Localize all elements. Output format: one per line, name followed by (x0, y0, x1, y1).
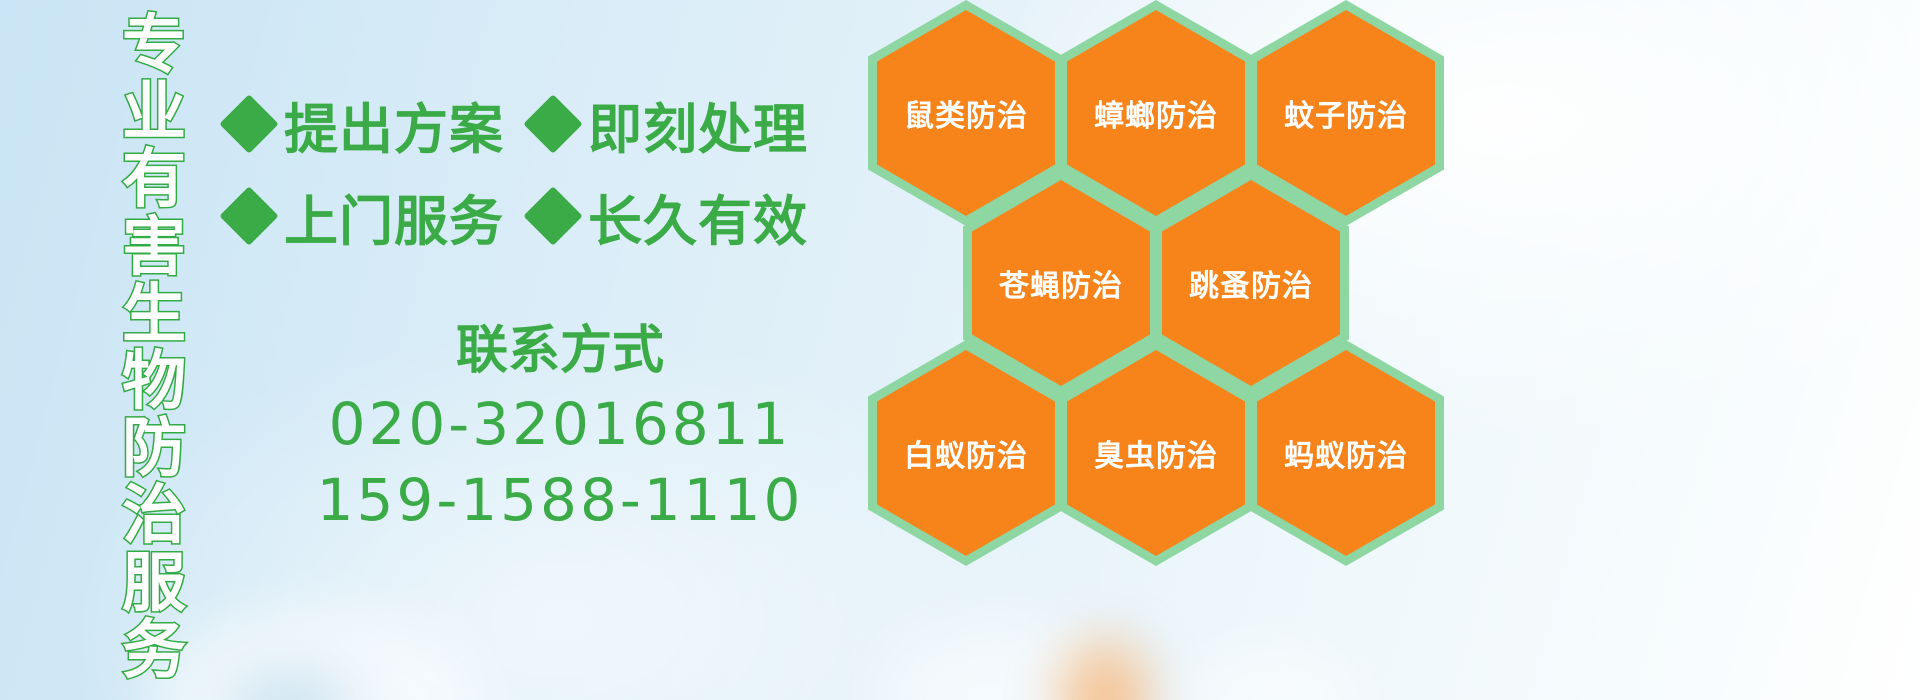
hex-cell-bedbug[interactable]: 臭虫防治 (1058, 340, 1254, 566)
contact-block: 联系方式 020-32016811 159-1588-1110 (300, 316, 820, 538)
hex-label: 蟑螂防治 (1094, 91, 1218, 135)
feature-label: 上门服务 (284, 177, 504, 256)
diamond-bullet-icon (219, 186, 278, 245)
feature-item: 上门服务 (228, 177, 504, 256)
background-blob (150, 610, 490, 700)
hexagon-shape: 臭虫防治 (1058, 340, 1254, 566)
vertical-title: 专 业 有 害 生 物 防 治 服 务 (108, 14, 200, 686)
feature-list: 提出方案 即刻处理 上门服务 长久有效 (228, 78, 868, 262)
feature-item: 长久有效 (532, 177, 808, 256)
vertical-title-char: 务 (122, 619, 186, 686)
hex-cell-termite[interactable]: 白蚁防治 (868, 340, 1064, 566)
hexagon-shape: 蚂蚁防治 (1248, 340, 1444, 566)
banner-stage: 专 业 有 害 生 物 防 治 服 务 提出方案 即刻处理 上门服务 (0, 0, 1920, 700)
hex-label: 臭虫防治 (1094, 431, 1218, 475)
diamond-bullet-icon (219, 94, 278, 153)
contact-label: 联系方式 (300, 316, 820, 386)
background-blob (230, 670, 350, 700)
hex-cell-ant[interactable]: 蚂蚁防治 (1248, 340, 1444, 566)
hex-label: 鼠类防治 (904, 91, 1028, 135)
feature-row: 上门服务 长久有效 (228, 170, 868, 262)
diamond-bullet-icon (523, 186, 582, 245)
hex-label: 蚊子防治 (1284, 91, 1408, 135)
contact-mobile[interactable]: 159-1588-1110 (300, 462, 820, 538)
vertical-title-char: 生 (122, 283, 186, 350)
vertical-title-char: 服 (122, 552, 186, 619)
hex-label: 跳蚤防治 (1189, 261, 1313, 305)
hexagon-shape: 白蚁防治 (868, 340, 1064, 566)
hex-label: 苍蝇防治 (999, 261, 1123, 305)
hex-label: 白蚁防治 (904, 431, 1028, 475)
feature-label: 长久有效 (588, 177, 808, 256)
vertical-title-char: 专 (122, 14, 186, 81)
feature-item: 提出方案 (228, 85, 504, 164)
vertical-title-char: 物 (122, 350, 186, 417)
diamond-bullet-icon (523, 94, 582, 153)
vertical-title-char: 治 (122, 484, 186, 551)
contact-landline[interactable]: 020-32016811 (300, 386, 820, 462)
feature-label: 即刻处理 (588, 85, 808, 164)
vertical-title-char: 业 (122, 81, 186, 148)
feature-item: 即刻处理 (532, 85, 808, 164)
feature-label: 提出方案 (284, 85, 504, 164)
vertical-title-char: 防 (122, 417, 186, 484)
vertical-title-char: 有 (122, 148, 186, 215)
hex-label: 蚂蚁防治 (1284, 431, 1408, 475)
feature-row: 提出方案 即刻处理 (228, 78, 868, 170)
service-honeycomb: 鼠类防治 蟑螂防治 蚊子防治 苍蝇防治 跳蚤防治 (862, 0, 1462, 700)
vertical-title-char: 害 (122, 216, 186, 283)
